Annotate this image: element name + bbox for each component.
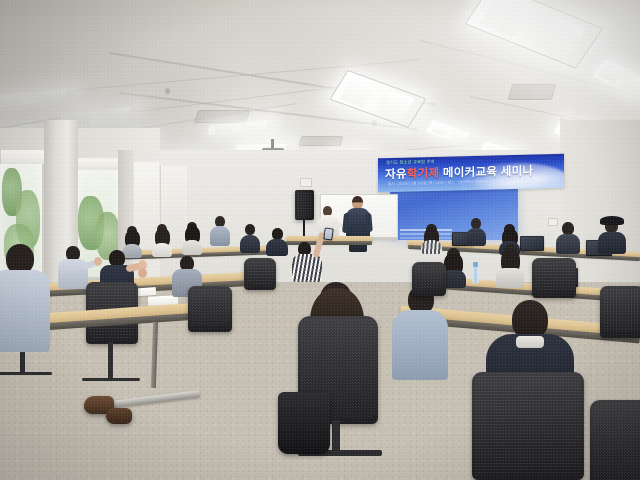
attendee [496,244,524,284]
person-hat [600,216,624,225]
event-banner: 경기도 청소년 교육원 주최 자유학기제 메이커교육 세미나 일시 : 2018… [378,154,564,193]
person-hand [138,268,147,278]
chair-mesh [247,261,273,284]
person-torso [421,240,442,254]
person-torso [392,310,448,380]
chair-mesh [593,403,640,480]
attendee [152,224,172,254]
water-bottle [472,266,479,284]
person-torso [240,235,260,253]
backpack-on-floor [278,392,330,454]
person-torso [210,226,230,246]
window-blind [76,158,123,170]
office-chair [188,286,232,332]
banner-title-part2: 메이커교육 세미나 [439,165,533,179]
shoe [106,408,132,424]
attendee [182,222,202,252]
wall-outlet [300,178,312,187]
attendee [210,216,230,246]
attendee-with-hat [598,216,626,250]
person-head [245,224,255,235]
attendee [240,224,260,252]
banner-title-highlight: 학기제 [407,168,440,181]
chair-mesh [535,261,573,292]
chair-mesh [191,289,229,326]
speaker-grill [297,192,312,218]
office-chair [600,286,640,338]
chair-mesh [415,265,443,290]
office-chair [532,258,576,298]
chair-mesh [475,375,581,474]
attendee-photographer [290,230,336,282]
person-torso [182,240,202,255]
phone-screen [324,229,332,240]
person-torso [0,270,50,352]
office-chair [590,400,640,480]
attendee [420,224,442,250]
attendee [556,222,580,252]
banner-title-part1: 자유 [385,169,407,182]
person-torso [152,243,172,257]
person-torso [266,239,288,256]
office-chair [472,372,584,480]
chair-base [82,378,140,381]
office-chair [244,258,276,290]
person-torso [556,234,580,254]
person-torso [292,254,322,282]
chair-base [0,372,52,375]
person-torso [466,228,486,246]
shirt-collar [516,336,544,348]
monitor-screen [521,237,543,250]
chair-post [108,342,113,380]
attendee [466,218,486,244]
person-torso [598,232,626,254]
window-blind [0,150,45,164]
chair-mesh [603,289,640,332]
attendee [392,286,448,378]
attendee [266,228,288,254]
attendee [0,244,50,348]
office-chair [412,262,446,296]
chair-post [332,420,340,454]
seminar-room-photo: 경기도 청소년 교육원 주최 자유학기제 메이커교육 세미나 일시 : 2018… [0,0,640,480]
handheld-phone [323,227,334,240]
pa-speaker [295,190,314,220]
attendee-clapping [58,246,88,288]
bottle-cap [473,262,478,267]
person-torso [496,268,524,288]
